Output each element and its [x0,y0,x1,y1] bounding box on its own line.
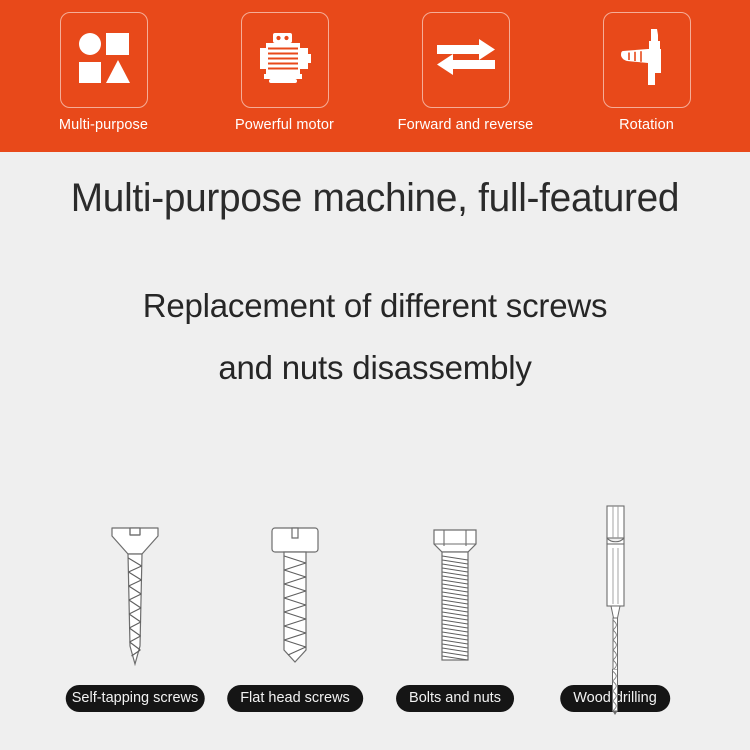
feature-card [422,12,510,108]
headline: Multi-purpose machine, full-featured [11,176,739,221]
feature-card [603,12,691,108]
product-art [260,505,330,677]
feature-item-multi-purpose: Multi-purpose [21,12,186,133]
product-label: Self-tapping screws [66,685,205,712]
countersunk-slotted-screw-icon [100,522,170,677]
feature-list: Multi-purpose [0,0,750,152]
product-marketing-banner: Multi-purpose [0,0,750,750]
shapes-icon [76,30,132,91]
feature-label: Rotation [619,117,674,133]
feature-card [60,12,148,108]
product-item-bolts-and-nuts: Bolts and nuts [380,505,530,720]
feature-card [241,12,329,108]
product-list: Self-tapping screws [0,505,750,720]
subheading-line-2: and nuts disassembly [0,337,750,399]
product-label: Flat head screws [227,685,363,712]
product-art [420,505,490,677]
feature-item-powerful-motor: Powerful motor [202,12,367,133]
pan-head-slotted-screw-icon [260,522,330,677]
feature-label: Multi-purpose [59,117,148,133]
rotary-drill-icon [619,27,675,94]
product-item-flat-head-screws: Flat head screws [220,505,370,720]
product-label: Wood drilling [560,685,670,712]
subheading-line-1: Replacement of different screws [0,275,750,337]
feature-label: Powerful motor [235,117,334,133]
product-item-wood-drilling: Wood drilling [540,505,690,720]
product-art [580,505,650,677]
hex-head-bolt-icon [420,522,490,677]
electric-motor-icon [256,31,314,90]
two-way-arrows-icon [435,38,497,83]
product-art [100,505,170,677]
subheading: Replacement of different screws and nuts… [0,275,750,399]
feature-item-forward-reverse: Forward and reverse [383,12,548,133]
feature-label: Forward and reverse [398,117,534,133]
product-label: Bolts and nuts [396,685,514,712]
feature-item-rotation: Rotation [564,12,729,133]
hex-shank-twist-drill-bit-icon [580,500,650,677]
product-item-self-tapping-screws: Self-tapping screws [60,505,210,720]
